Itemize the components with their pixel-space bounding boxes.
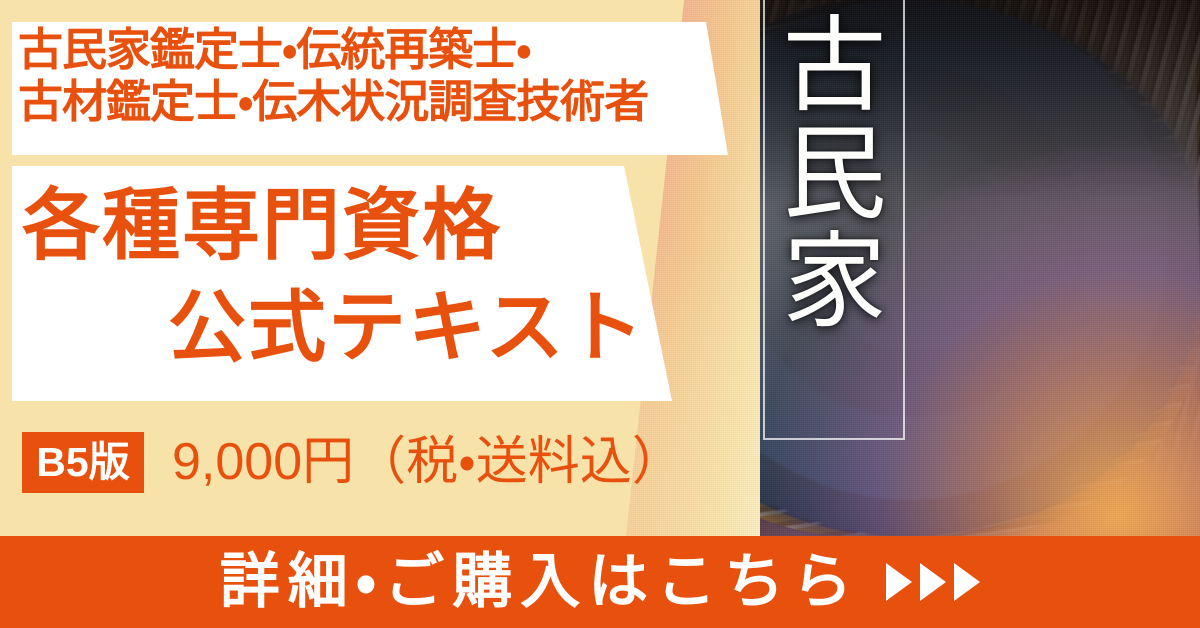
format-badge-b5: B5版: [22, 432, 144, 493]
book-cover-title: 古民家: [786, 10, 890, 334]
qualifications-list: 古民家鑑定士・伝統再築士・ 古材鑑定士・伝木状況調査技術者: [18, 24, 724, 128]
price-text: 9,000円（税・送料込）: [172, 436, 684, 488]
headline-line-2: 公式テキスト: [168, 288, 646, 366]
cta-arrow-group: [886, 563, 980, 601]
promo-banner: 伝統構法、古民家活用のための調査と再生の 古民家 古民家鑑定士・伝統再築士・ 古…: [0, 0, 1200, 628]
chevron-right-icon: [954, 563, 980, 601]
headline-line-1: 各種専門資格: [22, 186, 502, 264]
cta-bar[interactable]: 詳細・ご購入はこちら: [0, 536, 1200, 628]
chevron-right-icon: [920, 563, 946, 601]
chevron-right-icon: [886, 563, 912, 601]
cta-label: 詳細・ご購入はこちら: [220, 552, 860, 612]
